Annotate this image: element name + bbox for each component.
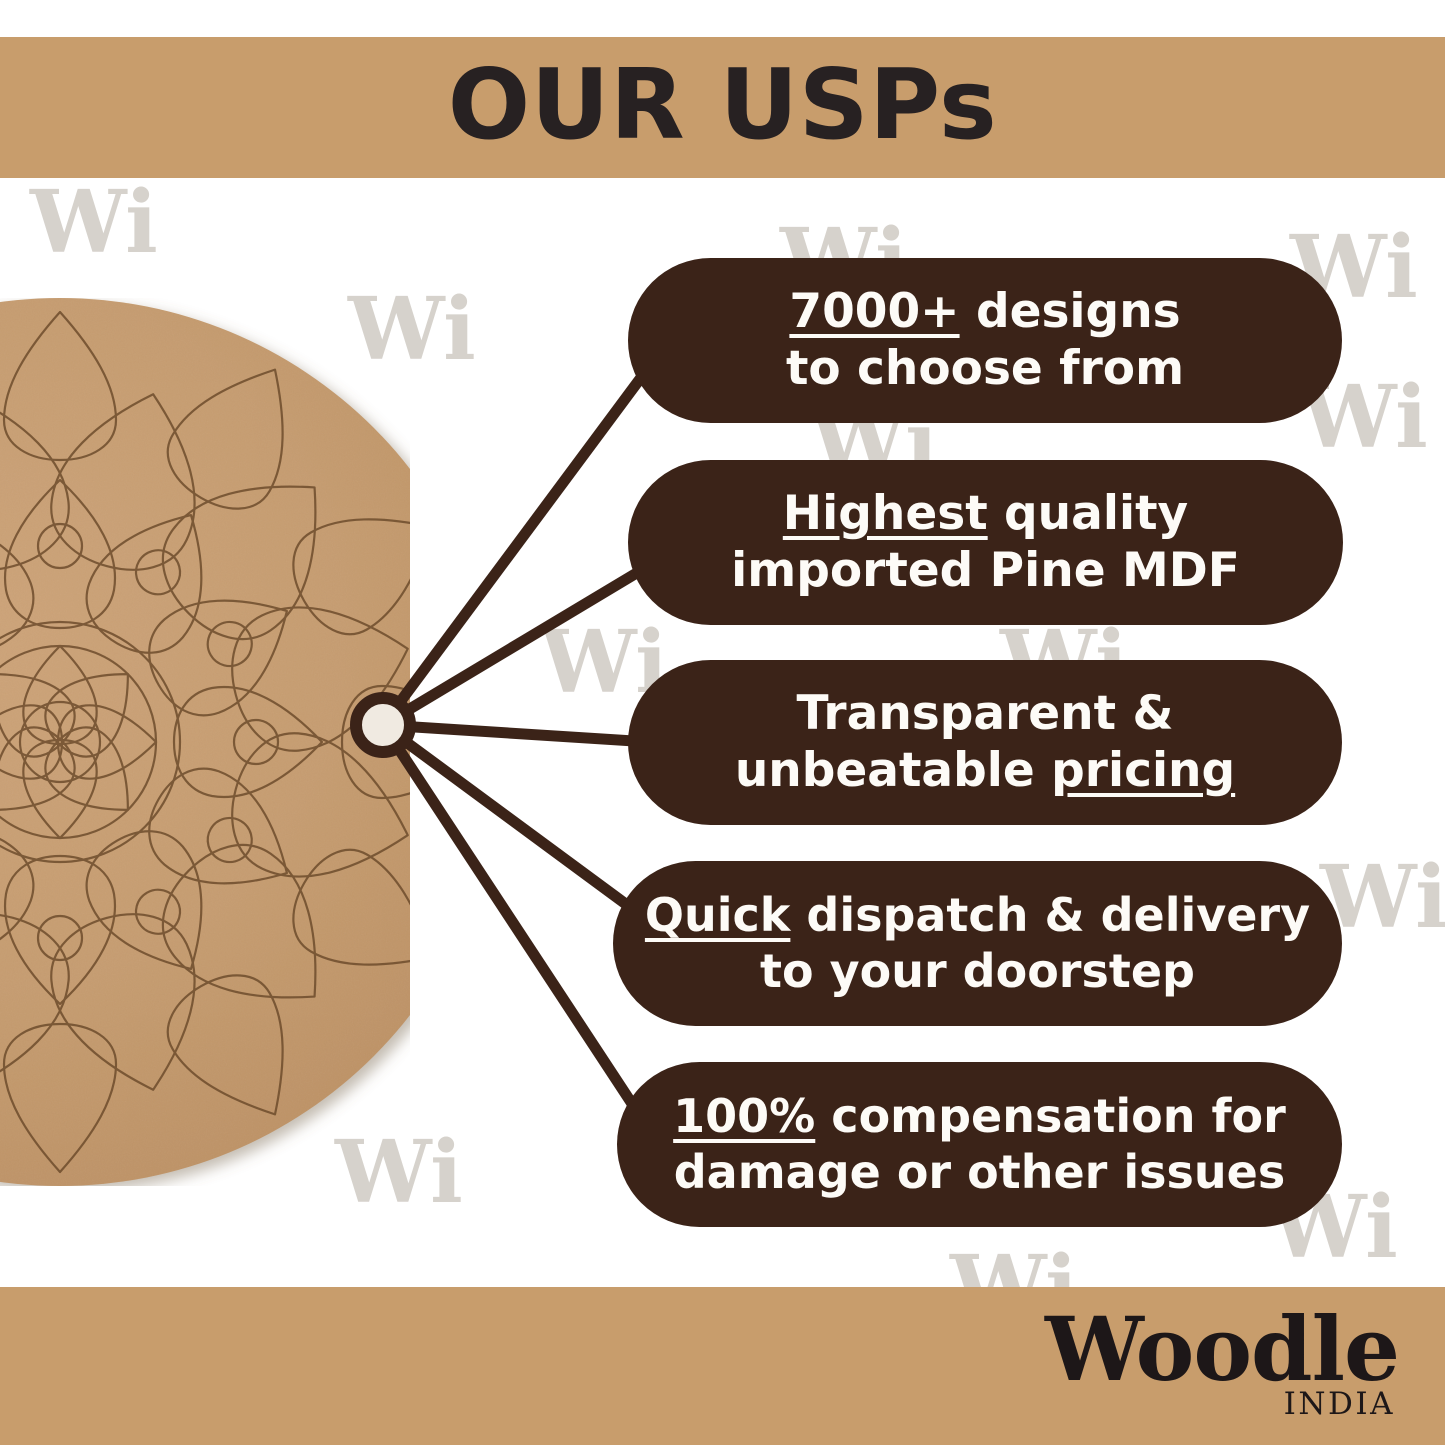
usp-pill-designs[interactable]: 7000+ designs to choose from [628, 258, 1342, 423]
usp-line-2: imported Pine MDF [731, 543, 1240, 599]
usp-highlight: 7000+ [789, 284, 959, 339]
connector-line-1 [383, 352, 660, 725]
usp-line1-post: dispatch & delivery [790, 888, 1310, 942]
usp-pill-quality[interactable]: Highest quality imported Pine MDF [628, 460, 1343, 625]
usp-pill-compensation[interactable]: 100% compensation for damage or other is… [617, 1062, 1342, 1227]
brand-name: Woodle [1045, 1305, 1399, 1393]
brand-logo: Woodle INDIA [1045, 1305, 1399, 1420]
usp-line1-post: designs [960, 284, 1181, 339]
usp-pill-pricing[interactable]: Transparent & unbeatable pricing [628, 660, 1342, 825]
usp-line2-pre: unbeatable [735, 743, 1051, 798]
connector-line-2 [383, 568, 645, 725]
usp-line-2: unbeatable pricing [735, 743, 1235, 799]
usp-pill-dispatch[interactable]: Quick dispatch & delivery to your doorst… [613, 861, 1342, 1026]
usp-line-1: Highest quality [783, 486, 1188, 542]
page-title: OUR USPs [448, 56, 997, 153]
usp-line-1: Transparent & [797, 686, 1174, 742]
connector-line-3 [383, 725, 650, 742]
usp-highlight: 100% [673, 1089, 815, 1143]
usp-line-1: 7000+ designs [789, 284, 1180, 340]
usp-line1-post: compensation for [815, 1089, 1286, 1143]
usp-line1-post: quality [988, 486, 1189, 541]
usp-line-2: damage or other issues [674, 1145, 1285, 1200]
connector-line-4 [383, 725, 642, 916]
watermark-wi: Wi [30, 180, 158, 266]
mandala-mdf-disc [0, 298, 410, 1186]
usp-line-1: Quick dispatch & delivery [645, 888, 1310, 943]
usp-line-1: 100% compensation for [673, 1089, 1286, 1144]
infographic-canvas: WiWiWiWiWiWiWiWiWiWiWiWi [0, 0, 1445, 1445]
usp-highlight: Quick [645, 888, 790, 942]
usp-highlight: Highest [783, 486, 988, 541]
footer-band: Woodle INDIA [0, 1287, 1445, 1445]
usp-highlight: pricing [1051, 743, 1235, 798]
connector-line-5 [383, 725, 648, 1128]
usp-line-2: to your doorstep [760, 944, 1195, 999]
usp-line-2: to choose from [786, 341, 1184, 397]
header-band: OUR USPs [0, 37, 1445, 178]
